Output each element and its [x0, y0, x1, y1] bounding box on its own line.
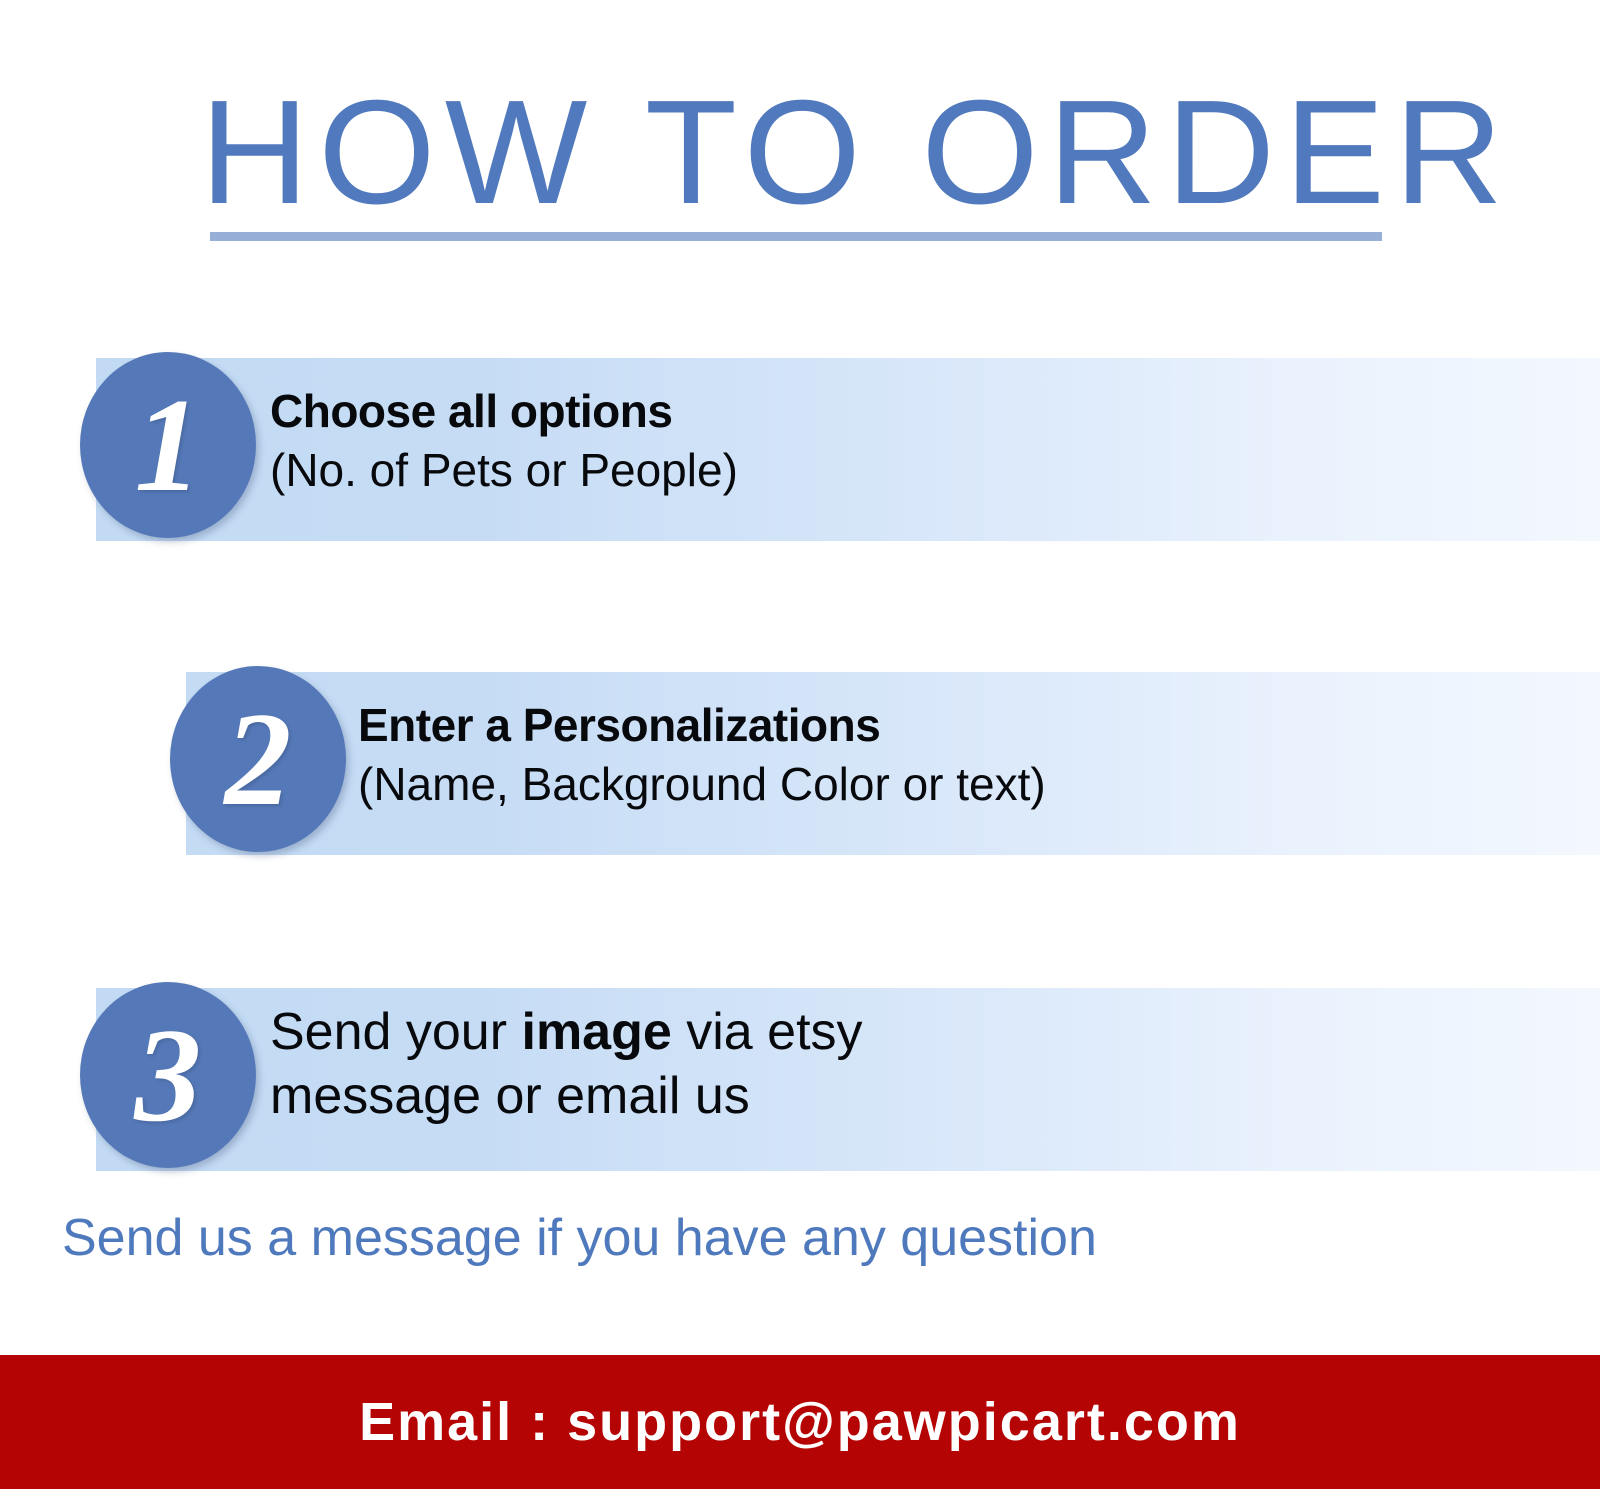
step-number-3: 3 [135, 1008, 202, 1142]
title-underline [210, 232, 1382, 241]
step-1-subline: (No. of Pets or People) [270, 440, 738, 500]
step-3-headline-emphasis: image [522, 1003, 672, 1061]
step-text-1: Choose all options (No. of Pets or Peopl… [270, 382, 738, 500]
step-3-headline-post: via etsy [672, 1003, 863, 1061]
step-number-2: 2 [225, 692, 292, 826]
step-3-subline: message or email us [270, 1064, 863, 1128]
step-1-headline: Choose all options [270, 382, 738, 440]
bottom-message: Send us a message if you have any questi… [62, 1206, 1097, 1270]
step-bar-2-left-gutter [0, 672, 186, 855]
footer-email-label[interactable]: Email : support@pawpicart.com [359, 1391, 1241, 1453]
infographic-canvas: HOW TO ORDER 1 Choose all options (No. o… [0, 0, 1600, 1489]
step-2-headline: Enter a Personalizations [358, 696, 1046, 754]
footer-bar: Email : support@pawpicart.com [0, 1355, 1600, 1489]
step-circle-2: 2 [170, 666, 346, 852]
page-title: HOW TO ORDER [200, 78, 1424, 228]
step-text-2: Enter a Personalizations (Name, Backgrou… [358, 696, 1046, 814]
step-3-headline: Send your image via etsy [270, 1000, 863, 1064]
step-text-3: Send your image via etsy message or emai… [270, 1000, 863, 1128]
step-2-subline: (Name, Background Color or text) [358, 754, 1046, 814]
step-circle-3: 3 [80, 982, 256, 1168]
step-3-headline-pre: Send your [270, 1003, 522, 1061]
step-circle-1: 1 [80, 352, 256, 538]
step-number-1: 1 [135, 378, 202, 512]
